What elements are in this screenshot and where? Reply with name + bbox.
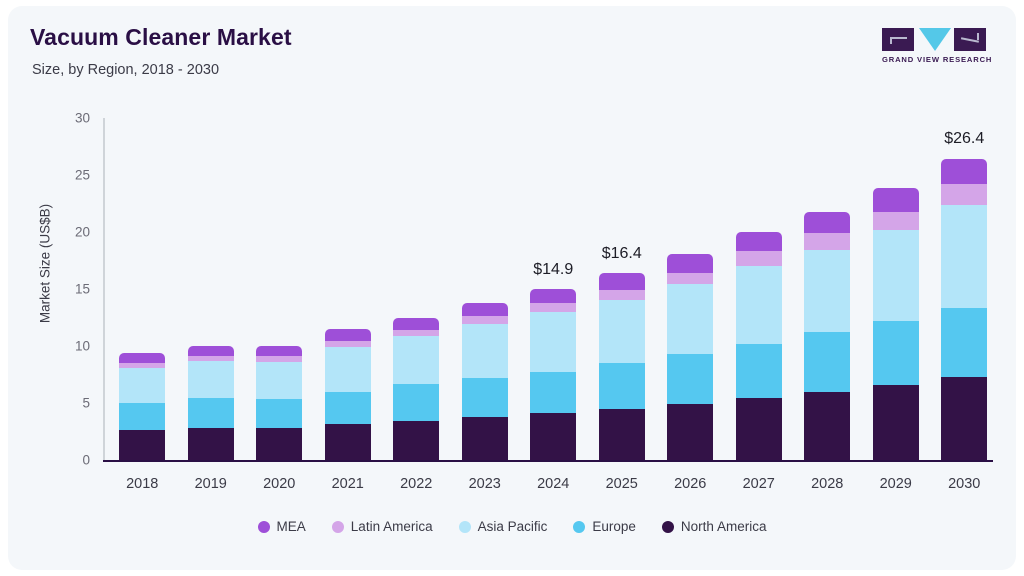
bar-segment-europe[interactable] — [599, 363, 645, 409]
bar-2029[interactable] — [873, 188, 919, 460]
bar-segment-asia-pacific[interactable] — [393, 336, 439, 384]
bar-segment-latin-america[interactable] — [736, 251, 782, 266]
y-axis-tick: 10 — [46, 339, 90, 354]
bar-segment-asia-pacific[interactable] — [873, 230, 919, 321]
legend-label: Asia Pacific — [478, 519, 548, 534]
x-axis-line — [103, 460, 993, 462]
bar-segment-north-america[interactable] — [188, 428, 234, 460]
bar-segment-latin-america[interactable] — [941, 184, 987, 206]
legend-item-latin-america[interactable]: Latin America — [332, 519, 433, 534]
y-axis-tick: 25 — [46, 168, 90, 183]
bar-segment-asia-pacific[interactable] — [462, 324, 508, 378]
bar-2025[interactable] — [599, 273, 645, 460]
bar-segment-europe[interactable] — [256, 399, 302, 428]
data-label-2025: $16.4 — [567, 245, 677, 263]
bar-2030[interactable] — [941, 159, 987, 461]
stacked-bar-chart: Market Size (US$B) 051015202530201820192… — [8, 6, 1016, 570]
bar-segment-asia-pacific[interactable] — [599, 300, 645, 363]
bar-segment-asia-pacific[interactable] — [325, 347, 371, 391]
y-axis-tick: 15 — [46, 282, 90, 297]
y-axis-title: Market Size (US$B) — [38, 164, 53, 364]
bar-segment-north-america[interactable] — [873, 385, 919, 460]
bar-segment-latin-america[interactable] — [462, 316, 508, 324]
legend-item-europe[interactable]: Europe — [573, 519, 636, 534]
bar-segment-latin-america[interactable] — [599, 290, 645, 300]
bar-segment-mea[interactable] — [325, 329, 371, 341]
bar-segment-europe[interactable] — [667, 354, 713, 404]
bar-segment-europe[interactable] — [119, 403, 165, 430]
chart-legend: MEALatin AmericaAsia PacificEuropeNorth … — [8, 519, 1016, 534]
data-label-2024: $14.9 — [498, 261, 608, 279]
legend-label: Europe — [592, 519, 636, 534]
bar-segment-europe[interactable] — [325, 392, 371, 424]
bar-segment-latin-america[interactable] — [804, 233, 850, 250]
bar-segment-mea[interactable] — [599, 273, 645, 290]
bar-segment-europe[interactable] — [873, 321, 919, 385]
bar-segment-mea[interactable] — [393, 318, 439, 330]
bar-2023[interactable] — [462, 303, 508, 460]
bar-segment-north-america[interactable] — [119, 430, 165, 460]
bar-2024[interactable] — [530, 289, 576, 460]
bar-segment-mea[interactable] — [119, 353, 165, 363]
bar-segment-asia-pacific[interactable] — [667, 284, 713, 354]
legend-item-asia-pacific[interactable]: Asia Pacific — [459, 519, 548, 534]
bar-segment-asia-pacific[interactable] — [119, 368, 165, 403]
legend-label: North America — [681, 519, 767, 534]
legend-item-north-america[interactable]: North America — [662, 519, 767, 534]
y-axis-tick: 0 — [46, 453, 90, 468]
y-axis-tick: 30 — [46, 111, 90, 126]
bar-2027[interactable] — [736, 232, 782, 460]
bar-segment-north-america[interactable] — [736, 398, 782, 460]
bar-segment-north-america[interactable] — [667, 404, 713, 460]
legend-swatch-icon — [459, 521, 471, 533]
bar-segment-north-america[interactable] — [941, 377, 987, 460]
bar-2018[interactable] — [119, 353, 165, 460]
bar-segment-north-america[interactable] — [325, 424, 371, 460]
bar-segment-latin-america[interactable] — [530, 303, 576, 312]
data-label-2030: $26.4 — [909, 130, 1016, 148]
bar-2026[interactable] — [667, 254, 713, 460]
bar-segment-north-america[interactable] — [530, 413, 576, 460]
bar-segment-mea[interactable] — [530, 289, 576, 303]
bar-segment-asia-pacific[interactable] — [530, 312, 576, 372]
bar-segment-mea[interactable] — [736, 232, 782, 251]
legend-swatch-icon — [258, 521, 270, 533]
bar-segment-europe[interactable] — [462, 378, 508, 417]
bar-2019[interactable] — [188, 346, 234, 460]
bar-segment-asia-pacific[interactable] — [256, 362, 302, 399]
bar-segment-latin-america[interactable] — [667, 273, 713, 284]
legend-item-mea[interactable]: MEA — [258, 519, 306, 534]
bar-segment-mea[interactable] — [941, 159, 987, 184]
bar-segment-north-america[interactable] — [393, 421, 439, 460]
bar-segment-europe[interactable] — [393, 384, 439, 420]
legend-swatch-icon — [662, 521, 674, 533]
bar-2022[interactable] — [393, 318, 439, 460]
bar-segment-europe[interactable] — [530, 372, 576, 414]
bar-segment-mea[interactable] — [667, 254, 713, 273]
bar-segment-mea[interactable] — [873, 188, 919, 212]
bar-segment-mea[interactable] — [256, 346, 302, 356]
bar-segment-europe[interactable] — [804, 332, 850, 392]
legend-swatch-icon — [573, 521, 585, 533]
bar-2028[interactable] — [804, 212, 850, 460]
bar-segment-north-america[interactable] — [804, 392, 850, 460]
bar-segment-asia-pacific[interactable] — [941, 205, 987, 308]
bar-2021[interactable] — [325, 329, 371, 460]
legend-swatch-icon — [332, 521, 344, 533]
y-axis-tick: 5 — [46, 396, 90, 411]
bar-segment-latin-america[interactable] — [393, 330, 439, 337]
bar-segment-north-america[interactable] — [599, 409, 645, 460]
bar-segment-latin-america[interactable] — [873, 212, 919, 230]
chart-card: Vacuum Cleaner Market Size, by Region, 2… — [8, 6, 1016, 570]
y-axis-line — [103, 118, 105, 461]
bar-segment-north-america[interactable] — [462, 417, 508, 460]
x-axis-tick-2030: 2030 — [909, 476, 1016, 492]
bar-segment-europe[interactable] — [941, 308, 987, 378]
bar-segment-mea[interactable] — [462, 303, 508, 316]
legend-label: MEA — [277, 519, 306, 534]
bar-segment-north-america[interactable] — [256, 428, 302, 460]
bar-2020[interactable] — [256, 346, 302, 460]
bar-segment-mea[interactable] — [804, 212, 850, 234]
bar-segment-asia-pacific[interactable] — [736, 266, 782, 344]
bar-segment-asia-pacific[interactable] — [188, 361, 234, 397]
bar-segment-asia-pacific[interactable] — [804, 250, 850, 332]
bar-segment-europe[interactable] — [188, 398, 234, 428]
legend-label: Latin America — [351, 519, 433, 534]
bar-segment-mea[interactable] — [188, 346, 234, 356]
bar-segment-europe[interactable] — [736, 344, 782, 398]
y-axis-tick: 20 — [46, 225, 90, 240]
